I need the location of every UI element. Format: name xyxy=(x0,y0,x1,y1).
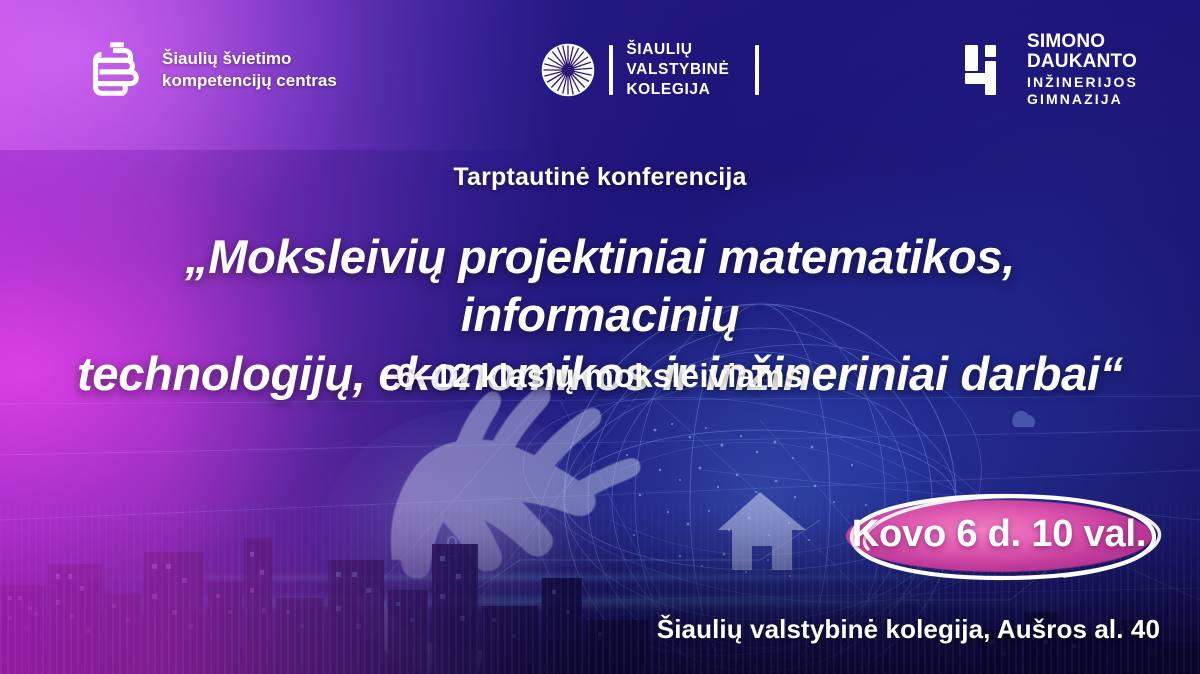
logo-sdig: SIMONO DAUKANTO INŽINERIJOS GIMNAZIJA xyxy=(963,32,1138,108)
logo-svk-line1: ŠIAULIŲ xyxy=(626,40,729,60)
logo-sdig-text: SIMONO DAUKANTO INŽINERIJOS GIMNAZIJA xyxy=(1027,32,1138,108)
logo-sdig-line3: INŽINERIJOS xyxy=(1027,75,1138,91)
logo-svk-divider-right xyxy=(755,45,759,95)
logo-sdig-line1: SIMONO xyxy=(1027,32,1138,52)
conference-poster: Šiaulių švietimo kompetencijų centras xyxy=(0,0,1200,674)
logo-sskc-text: Šiaulių švietimo kompetencijų centras xyxy=(162,48,337,92)
date-badge-text: Kovo 6 d. 10 val. xyxy=(828,487,1170,585)
logo-svk-line3: KOLEGIJA xyxy=(626,80,729,100)
venue-text: Šiaulių valstybinė kolegija, Aušros al. … xyxy=(657,614,1160,645)
daukanto-mark-icon xyxy=(963,41,1013,99)
page-title-line1: „Moksleivių projektiniai matematikos, in… xyxy=(40,228,1160,345)
logo-sskc: Šiaulių švietimo kompetencijų centras xyxy=(84,39,337,101)
data-streak-primary xyxy=(0,597,1200,607)
sskc-monogram-icon xyxy=(84,39,146,101)
logo-sdig-line2: DAUKANTO xyxy=(1027,52,1138,72)
audience-subtitle: 6–12 klasių moksleiviams xyxy=(0,357,1200,395)
conference-kicker: Tarptautinė konferencija xyxy=(0,163,1200,192)
logo-sskc-line2: kompetencijų centras xyxy=(162,70,337,92)
sunburst-circle-icon xyxy=(540,42,596,98)
logo-svk: ŠIAULIŲ VALSTYBINĖ KOLEGIJA xyxy=(540,40,759,100)
logo-svk-divider-left xyxy=(609,45,613,95)
logo-svk-line2: VALSTYBINĖ xyxy=(626,60,729,80)
date-badge: Kovo 6 d. 10 val. xyxy=(828,487,1170,585)
lock-icon xyxy=(445,537,459,556)
logo-sskc-line1: Šiaulių švietimo xyxy=(162,48,337,70)
home-icon xyxy=(718,492,806,570)
logo-header: Šiaulių švietimo kompetencijų centras xyxy=(0,0,1200,140)
logo-svk-text: ŠIAULIŲ VALSTYBINĖ KOLEGIJA xyxy=(626,40,729,100)
logo-sdig-line4: GIMNAZIJA xyxy=(1027,92,1138,108)
